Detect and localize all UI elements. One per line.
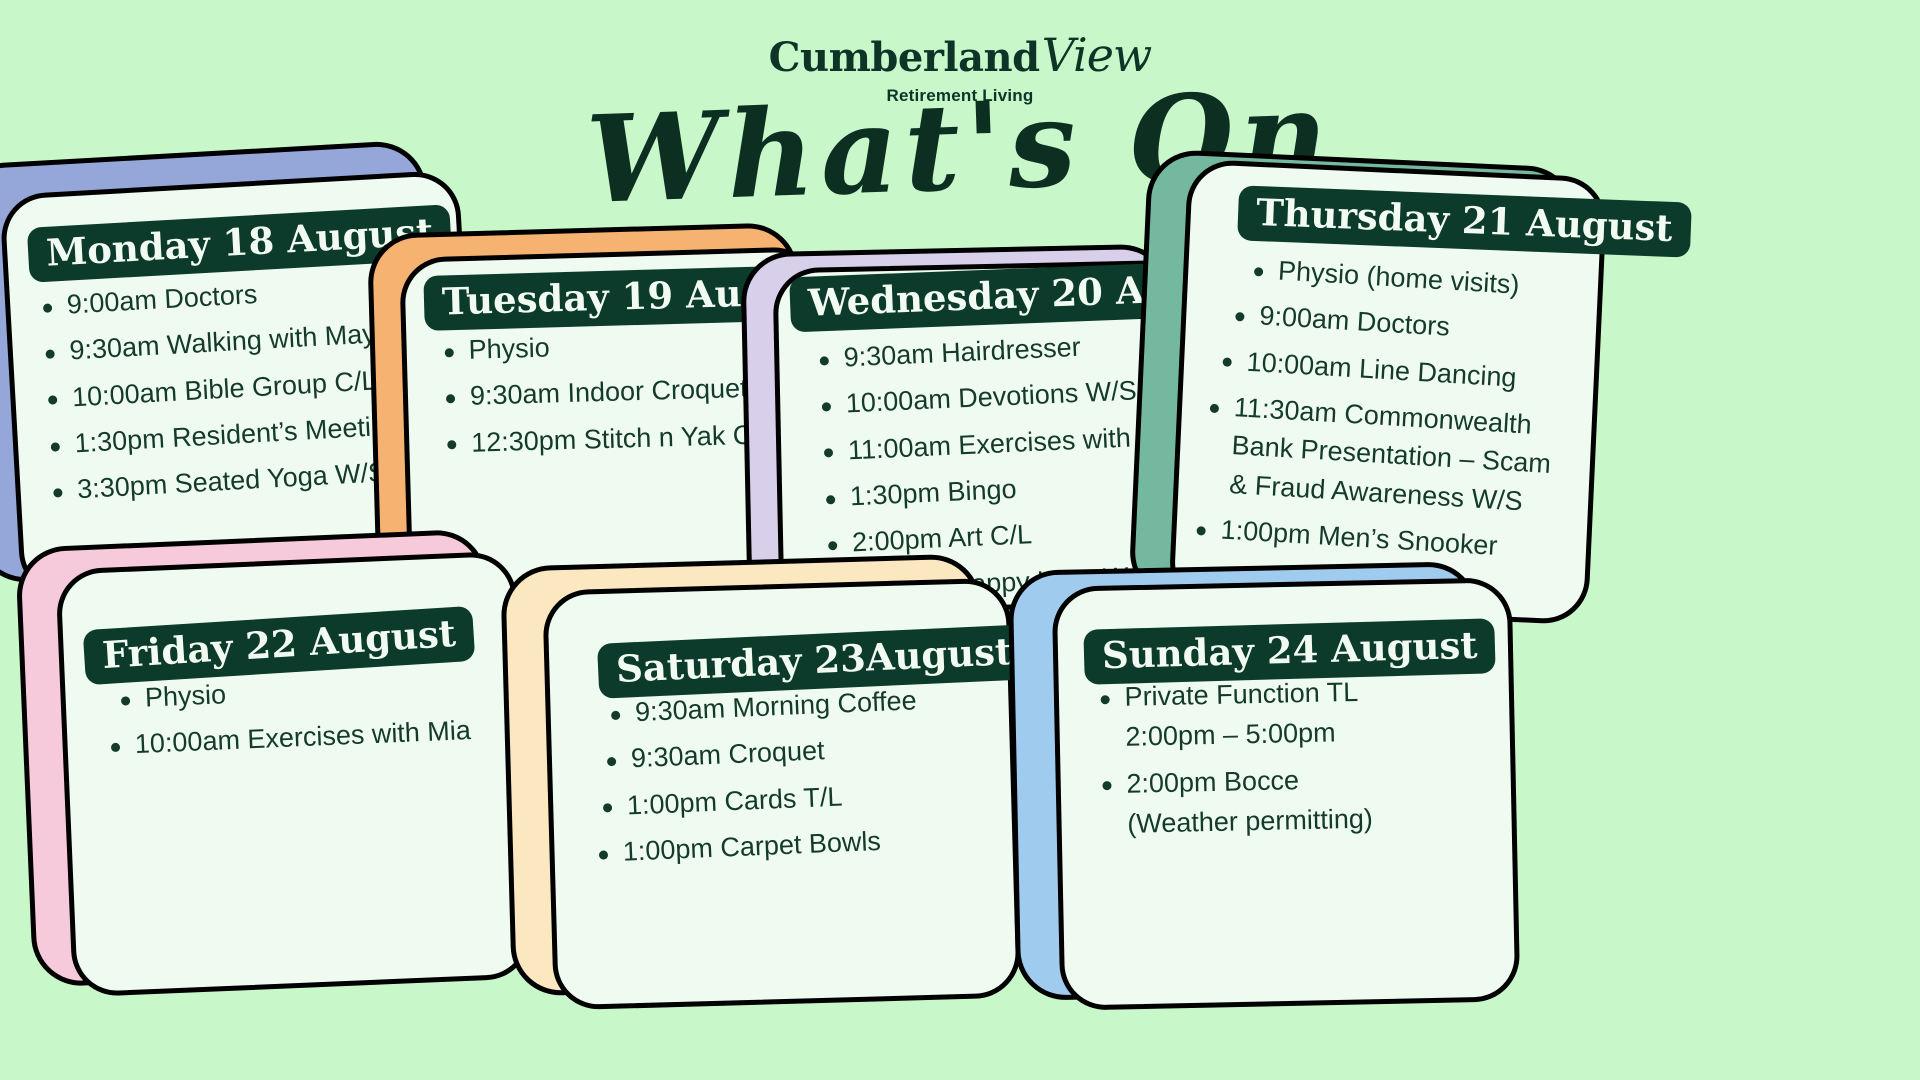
brand-name-main: Cumberland [769, 34, 1040, 81]
list-item: 11:30am Commonwealth Bank Presentation –… [1198, 386, 1564, 522]
card-items-sunday: Private Function TL 2:00pm – 5:00pm 2:00… [1094, 670, 1518, 852]
list-item: 2:00pm Bocce [1096, 756, 1517, 803]
brand-tagline: Retirement Living [0, 86, 1920, 106]
list-item: 9:30am Croquet [600, 724, 1015, 780]
list-item: 10:00am Exercises with Mia [104, 710, 505, 765]
card-items-friday: Physio 10:00am Exercises with Mia [102, 664, 506, 773]
card-items-saturday: 9:30am Morning Coffee 9:30am Croquet 1:0… [592, 677, 1019, 880]
list-item-detail: 2:00pm – 5:00pm [1095, 710, 1516, 757]
list-item: 1:00pm Carpet Bowls [592, 816, 1019, 872]
poster-canvas: CumberlandView Retirement Living What's … [0, 0, 1920, 1080]
brand-name-script: View [1042, 28, 1152, 82]
list-item: Private Function TL [1094, 670, 1515, 717]
brand-logo: CumberlandView Retirement Living [0, 28, 1920, 106]
list-item-detail: (Weather permitting) [1097, 797, 1518, 844]
card-items-thursday: Physio (home visits) 9:00am Doctors 10:0… [1195, 248, 1573, 577]
list-item: 1:00pm Cards T/L [596, 770, 1017, 826]
